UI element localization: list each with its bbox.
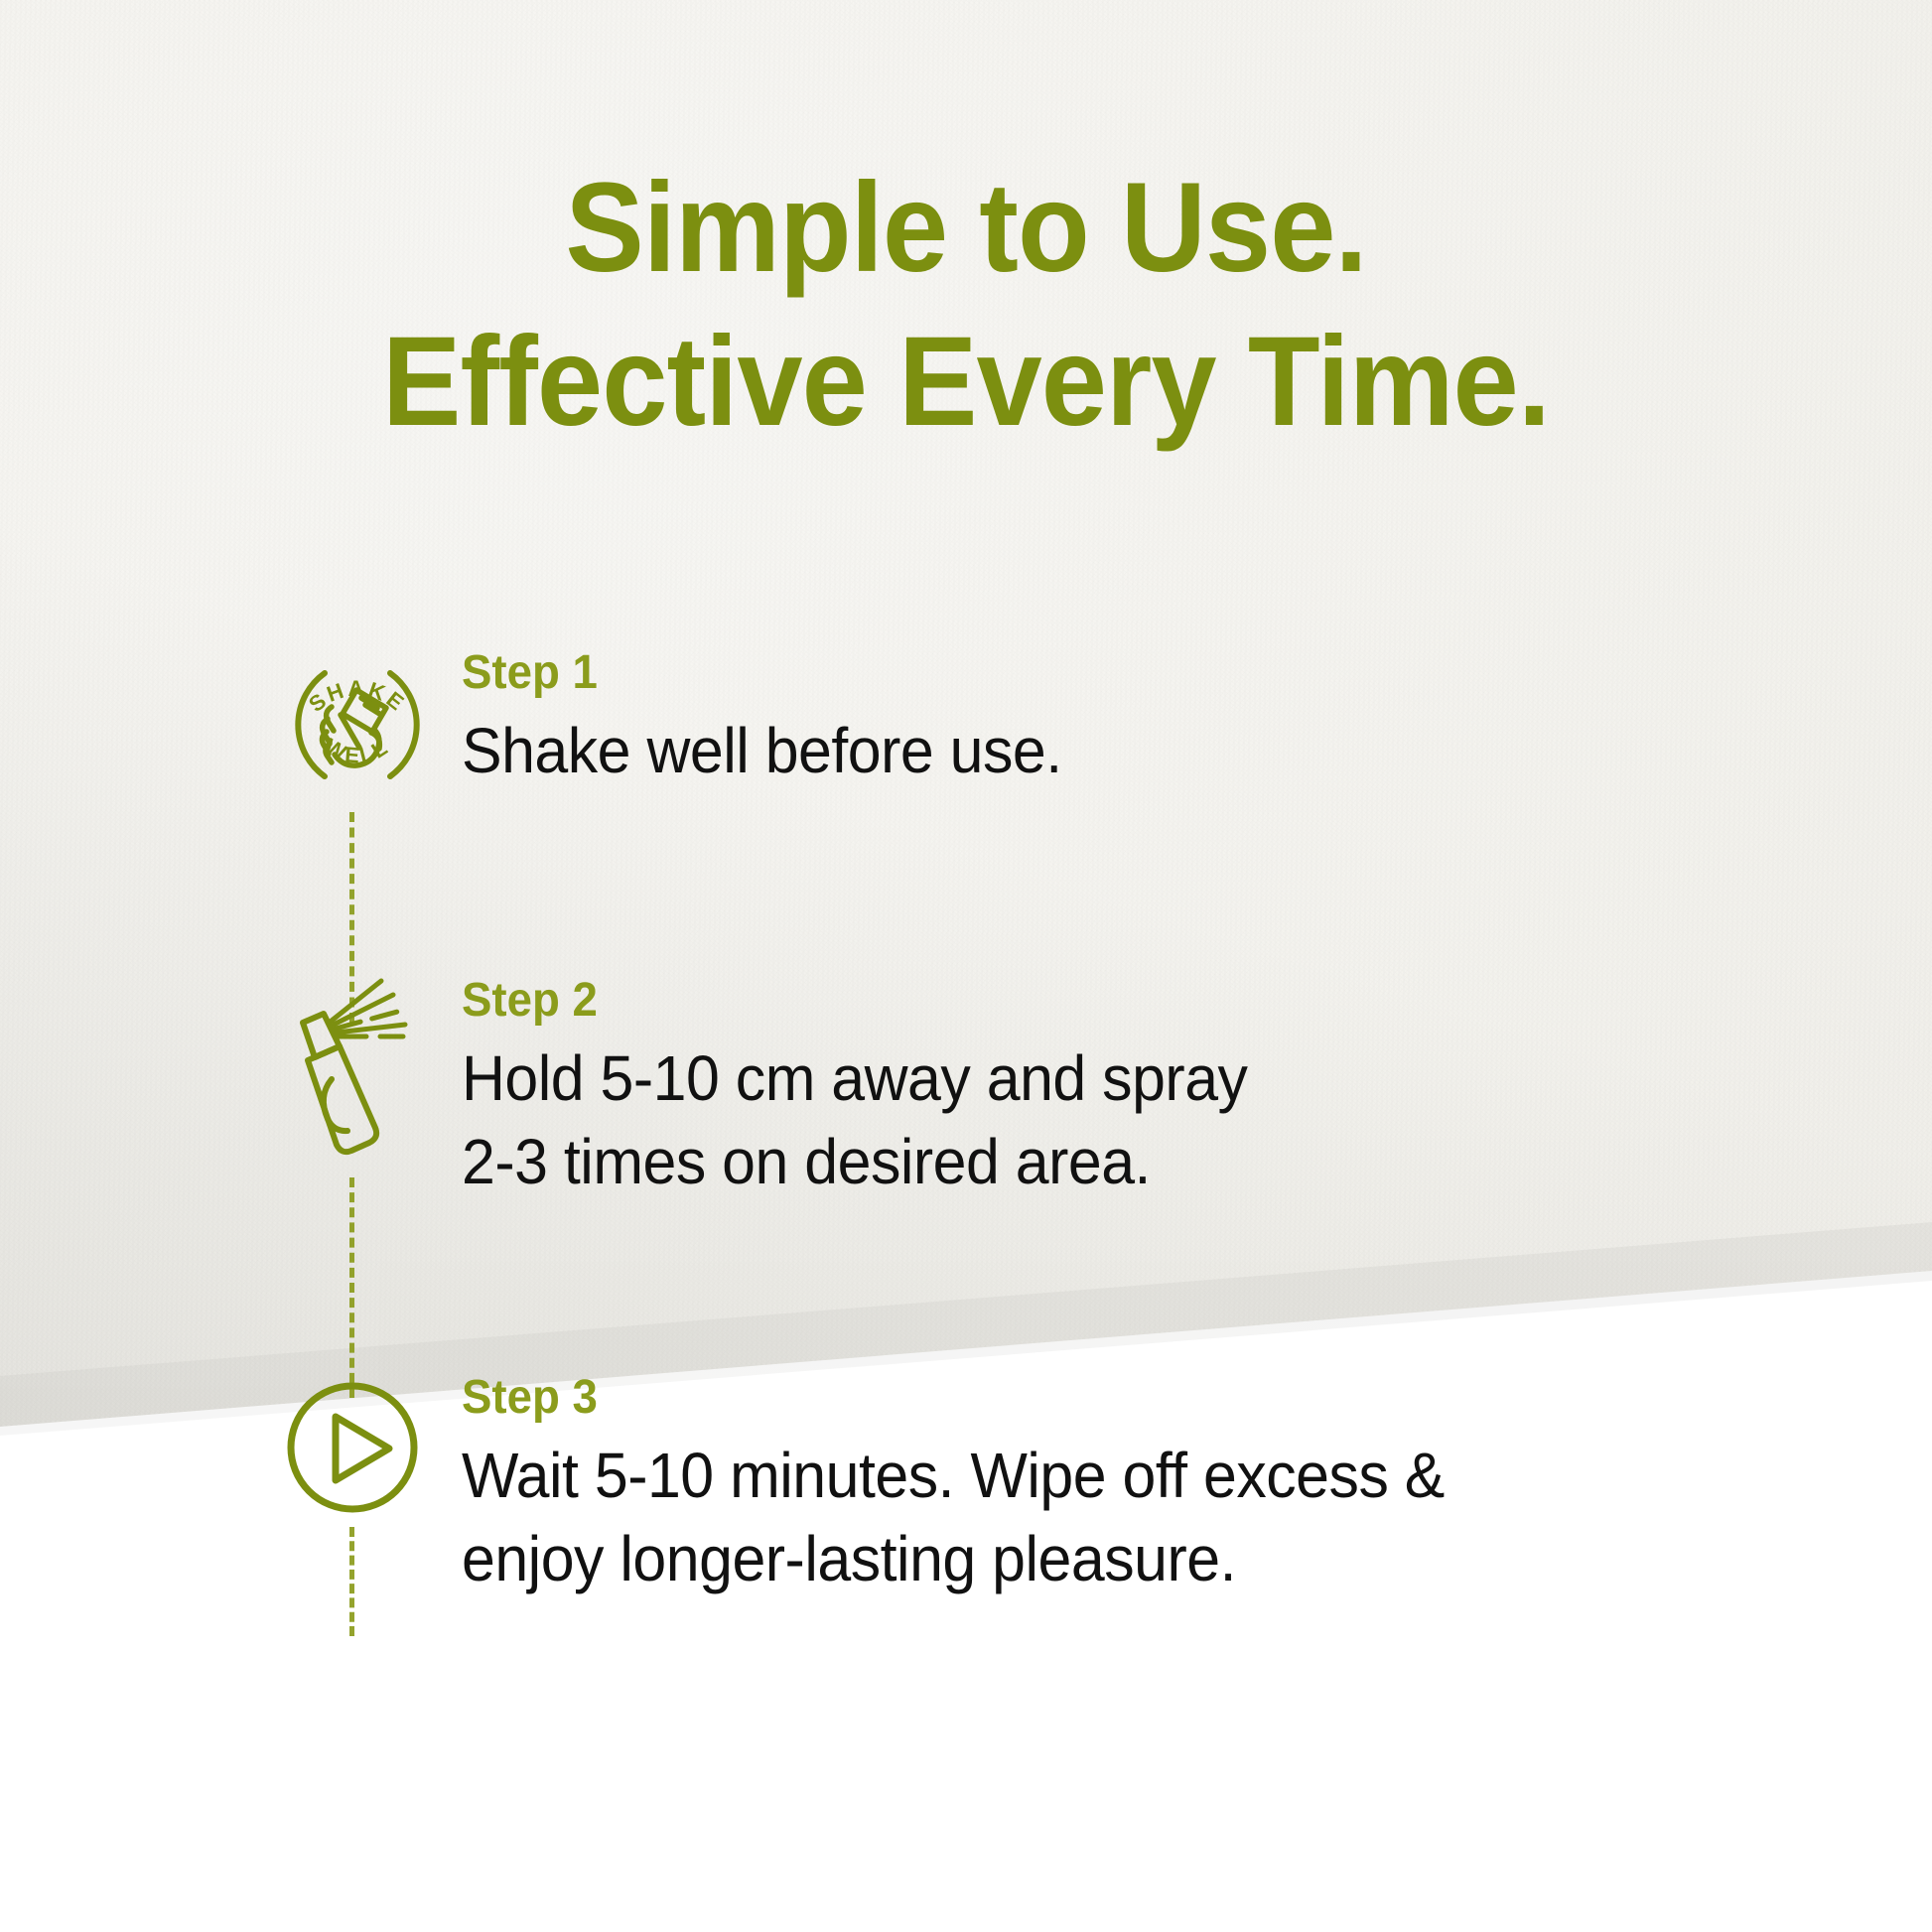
step-description: Wait 5-10 minutes. Wipe off excess & enj… [462, 1434, 1801, 1600]
connector-step2-step3 [349, 1177, 354, 1398]
step-text-block: Step 2 Hold 5-10 cm away and spray 2-3 t… [462, 973, 1871, 1203]
step-description: Hold 5-10 cm away and spray 2-3 times on… [462, 1036, 1801, 1203]
spray-bottle-icon [278, 973, 437, 1132]
step-text-block: Step 3 Wait 5-10 minutes. Wipe off exces… [462, 1370, 1871, 1600]
poster-canvas: Simple to Use. Effective Every Time. [0, 0, 1932, 1932]
play-circle-icon [278, 1370, 437, 1529]
step-text-block: Step 1 Shake well before use. [462, 645, 1871, 792]
step-label: Step 2 [462, 973, 1801, 1029]
connector-step3-tail [349, 1527, 354, 1636]
shake-well-badge-icon: SHAKE WELL [278, 645, 437, 804]
step-label: Step 1 [462, 645, 1801, 701]
svg-text:SHAKE: SHAKE [304, 676, 411, 717]
step-label: Step 3 [462, 1370, 1801, 1426]
step-description: Shake well before use. [462, 709, 1801, 792]
steps-list: SHAKE WELL [0, 0, 1932, 1932]
